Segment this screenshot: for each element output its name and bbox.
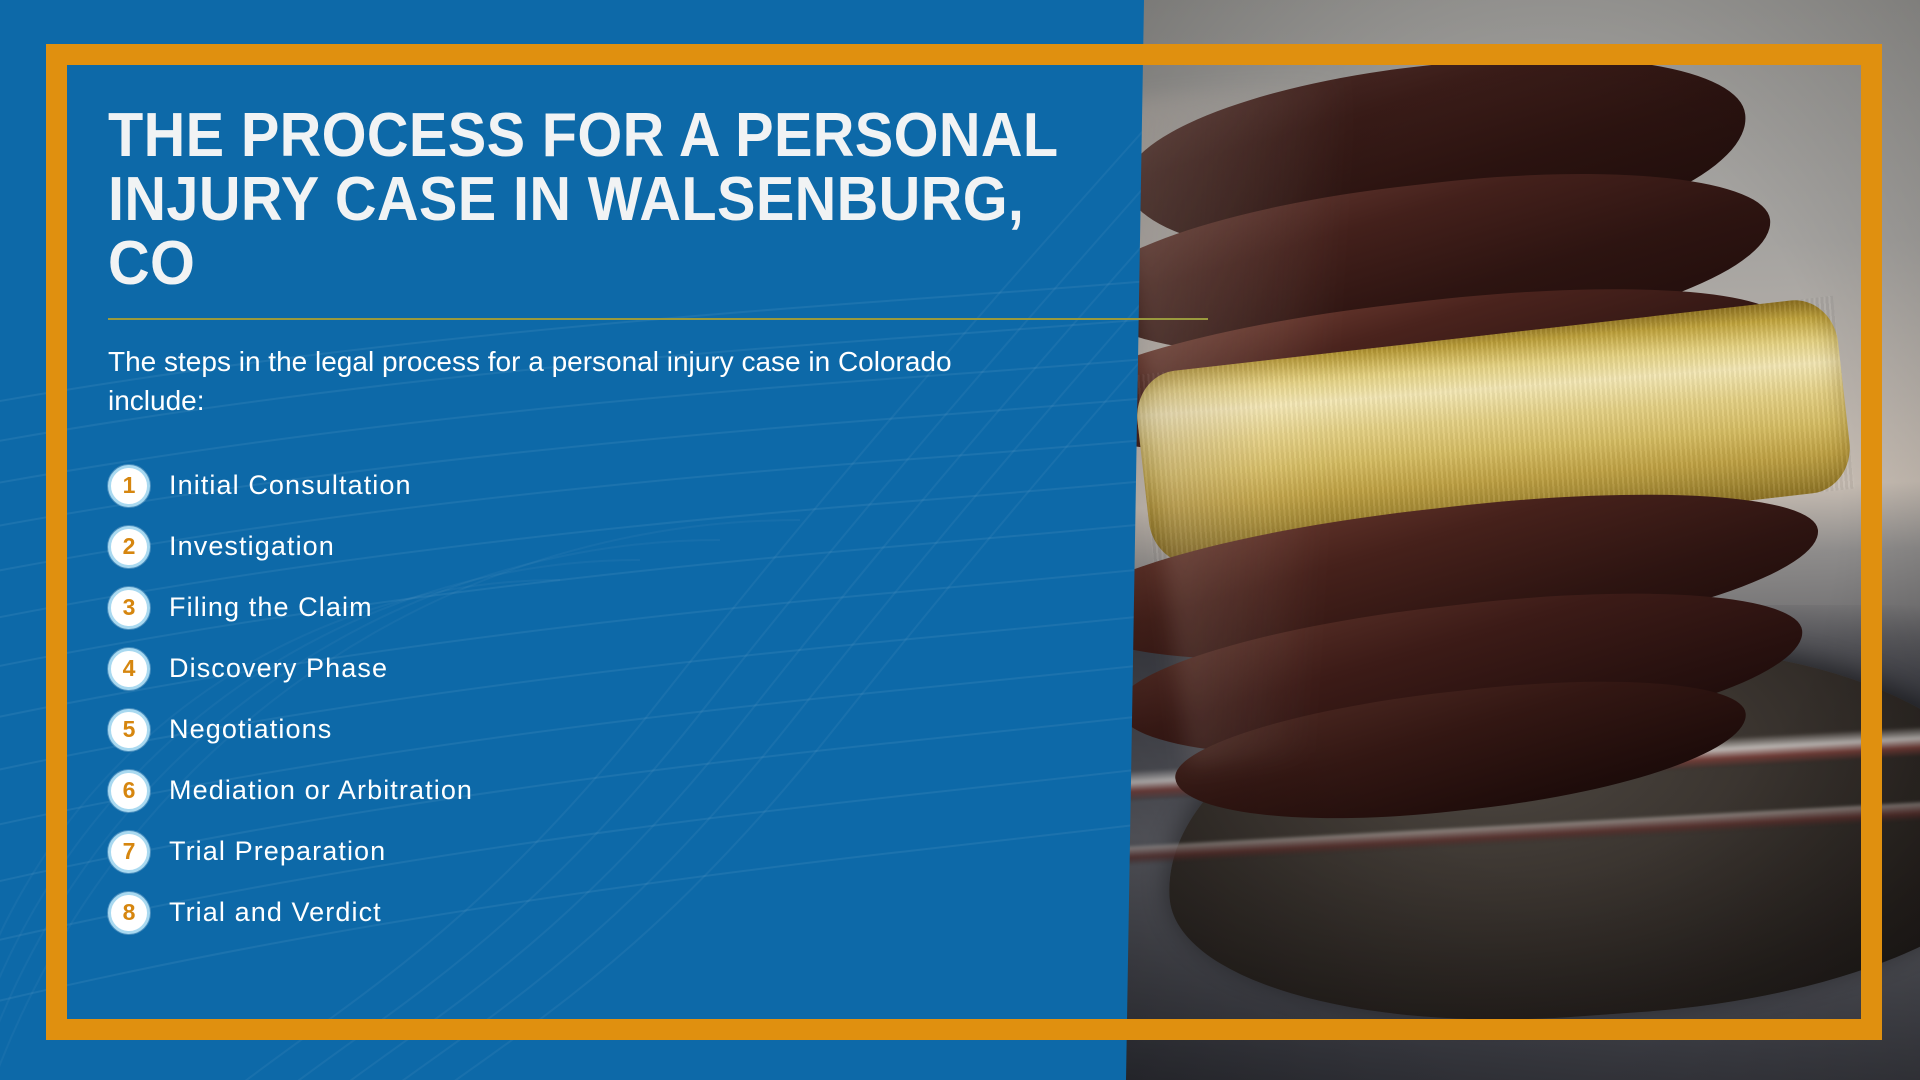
step-number-badge: 6 (108, 770, 150, 812)
steps-list: 1 Initial Consultation 2 Investigation 3… (108, 455, 1118, 943)
photo-vignette (1100, 0, 1920, 1080)
step-label: Mediation or Arbitration (169, 775, 473, 806)
step-number-badge: 2 (108, 526, 150, 568)
step-label: Investigation (169, 531, 335, 562)
step-label: Filing the Claim (169, 592, 373, 623)
step-number-badge: 3 (108, 587, 150, 629)
step-label: Discovery Phase (169, 653, 388, 684)
subtitle-text: The steps in the legal process for a per… (108, 342, 988, 422)
list-item: 2 Investigation (108, 516, 1118, 577)
list-item: 8 Trial and Verdict (108, 882, 1118, 943)
step-number-badge: 5 (108, 709, 150, 751)
list-item: 7 Trial Preparation (108, 821, 1118, 882)
list-item: 1 Initial Consultation (108, 455, 1118, 516)
step-number-badge: 8 (108, 892, 150, 934)
step-number-badge: 1 (108, 465, 150, 507)
list-item: 6 Mediation or Arbitration (108, 760, 1118, 821)
title-divider (108, 318, 1208, 320)
page-title: THE PROCESS FOR A PERSONAL INJURY CASE I… (108, 104, 1112, 296)
slide-canvas: THE PROCESS FOR A PERSONAL INJURY CASE I… (0, 0, 1920, 1080)
step-label: Trial and Verdict (169, 897, 382, 928)
slide-content: THE PROCESS FOR A PERSONAL INJURY CASE I… (108, 104, 1118, 943)
list-item: 5 Negotiations (108, 699, 1118, 760)
list-item: 4 Discovery Phase (108, 638, 1118, 699)
step-label: Trial Preparation (169, 836, 386, 867)
gavel-photo (1100, 0, 1920, 1080)
step-number-badge: 7 (108, 831, 150, 873)
list-item: 3 Filing the Claim (108, 577, 1118, 638)
step-number-badge: 4 (108, 648, 150, 690)
step-label: Negotiations (169, 714, 332, 745)
step-label: Initial Consultation (169, 470, 412, 501)
